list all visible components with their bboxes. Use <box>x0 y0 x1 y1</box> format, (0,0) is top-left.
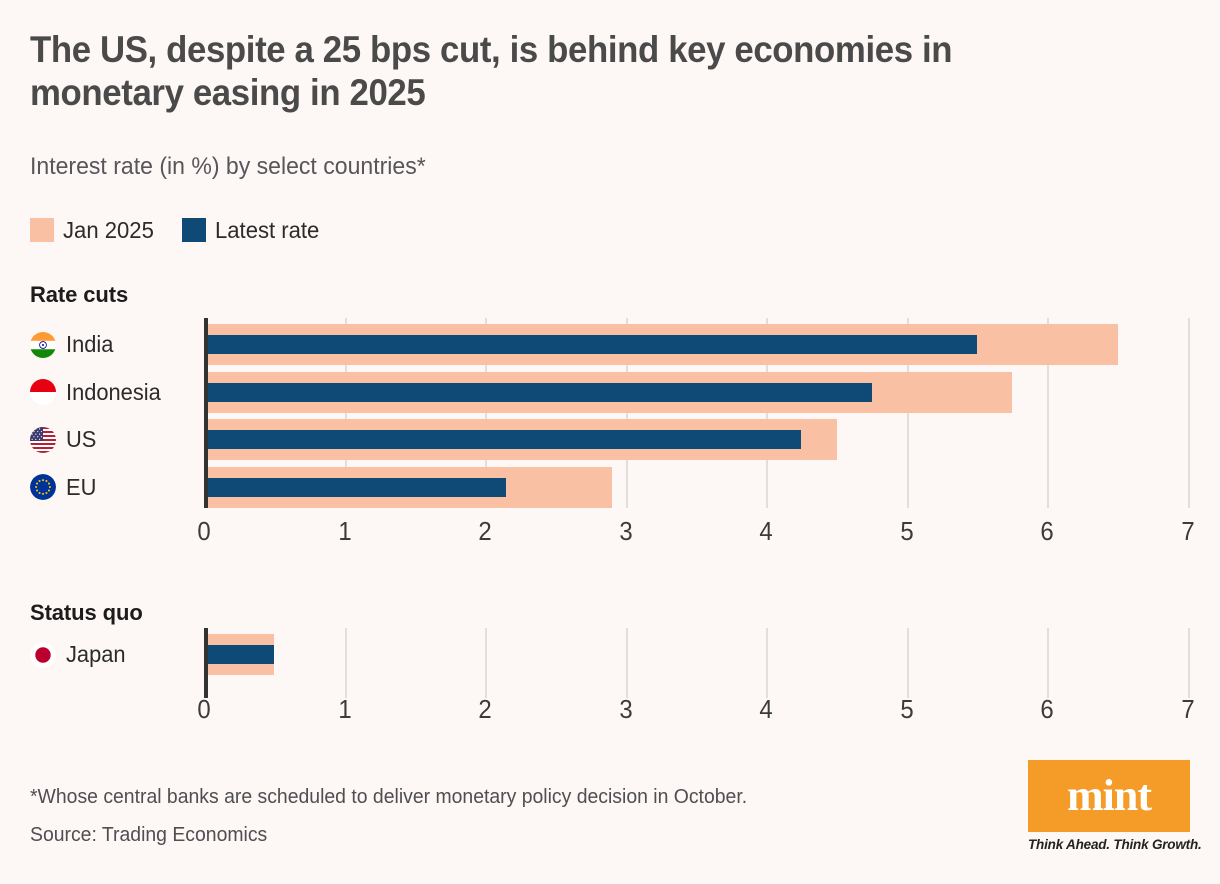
x-tick-label: 5 <box>900 516 913 546</box>
x-axis-rate-cuts: 01234567 <box>204 516 1188 550</box>
x-tick-label: 2 <box>478 694 491 724</box>
x-axis-status-quo: 01234567 <box>204 694 1188 728</box>
x-tick-label: 7 <box>1181 516 1194 546</box>
mint-logo-box: mint <box>1028 760 1190 832</box>
plot-area-status-quo <box>204 628 1188 698</box>
legend-item-latest-rate: Latest rate <box>182 218 324 242</box>
x-tick-label: 6 <box>1041 694 1054 724</box>
bar-latest-rate <box>204 430 801 449</box>
y-axis-line <box>204 318 208 508</box>
bar-group-india <box>204 324 1188 365</box>
plot-area-rate-cuts <box>204 318 1188 508</box>
x-tick-label: 3 <box>619 516 632 546</box>
chart-page: The US, despite a 25 bps cut, is behind … <box>0 0 1220 884</box>
x-tick-label: 6 <box>1041 516 1054 546</box>
x-tick-label: 1 <box>338 516 351 546</box>
y-axis-line <box>204 628 208 698</box>
bar-latest-rate <box>204 478 506 497</box>
chart-panel-rate-cuts <box>0 318 1220 508</box>
footnote: *Whose central banks are scheduled to de… <box>30 784 747 810</box>
bar-group-us <box>204 419 1188 460</box>
x-tick-label: 3 <box>619 694 632 724</box>
bar-latest-rate <box>204 383 872 402</box>
x-tick-label: 0 <box>197 516 210 546</box>
bar-latest-rate <box>204 335 977 354</box>
x-tick-label: 0 <box>197 694 210 724</box>
mint-logo-text: mint <box>1067 774 1151 818</box>
legend-item-jan-2025: Jan 2025 <box>30 218 158 242</box>
x-tick-label: 4 <box>760 694 773 724</box>
mint-logo-tagline: Think Ahead. Think Growth. <box>1028 837 1190 852</box>
legend-label-latest-rate: Latest rate <box>215 218 319 242</box>
legend-label-jan-2025: Jan 2025 <box>63 218 154 242</box>
x-tick-label: 4 <box>760 516 773 546</box>
legend-swatch-latest-rate <box>182 218 206 242</box>
chart-legend: Jan 2025 Latest rate <box>30 218 323 242</box>
x-tick-label: 1 <box>338 694 351 724</box>
section-heading-status-quo: Status quo <box>30 600 143 626</box>
bar-latest-rate <box>204 645 274 664</box>
page-title: The US, despite a 25 bps cut, is behind … <box>30 28 1083 114</box>
bar-group-japan <box>204 634 1188 675</box>
bar-group-eu <box>204 467 1188 508</box>
mint-logo: mint Think Ahead. Think Growth. <box>1028 760 1190 852</box>
section-heading-rate-cuts: Rate cuts <box>30 282 128 308</box>
gridline <box>1188 628 1190 698</box>
legend-swatch-jan-2025 <box>30 218 54 242</box>
gridline <box>1188 318 1190 508</box>
x-tick-label: 5 <box>900 694 913 724</box>
chart-subtitle: Interest rate (in %) by select countries… <box>30 152 426 182</box>
bar-group-indonesia <box>204 372 1188 413</box>
chart-panel-status-quo <box>0 628 1220 698</box>
x-tick-label: 7 <box>1181 694 1194 724</box>
x-tick-label: 2 <box>478 516 491 546</box>
source-note: Source: Trading Economics <box>30 822 267 848</box>
